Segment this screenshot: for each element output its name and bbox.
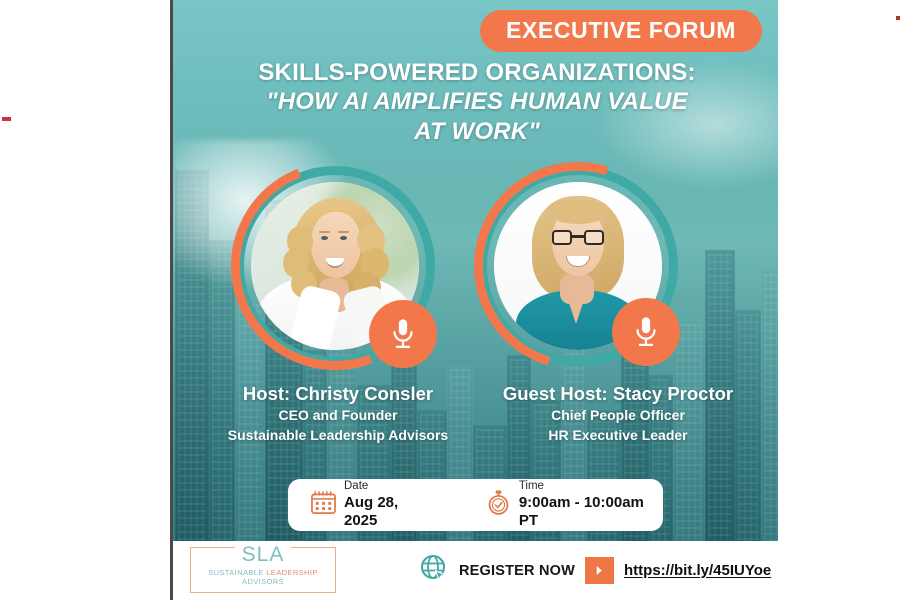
event-flyer: EXECUTIVE FORUM SKILLS-POWERED ORGANIZAT…	[170, 0, 778, 600]
speaker-avatar-stacy-proctor	[478, 166, 678, 366]
register-row: REGISTER NOW https://bit.ly/45IUYoe	[419, 553, 771, 588]
flyer-footer: SLA SUSTAINABLE LEADERSHIP ADVISORS REGI…	[173, 541, 778, 600]
page-mark-right	[896, 16, 900, 20]
microphone-icon	[612, 298, 680, 366]
avatar-accent-arc	[437, 125, 718, 406]
speaker-company: HR Executive Leader	[473, 426, 763, 446]
speaker-caption-stacy-proctor: Guest Host: Stacy Proctor Chief People O…	[473, 382, 763, 446]
speaker-name: Guest Host: Stacy Proctor	[473, 382, 763, 406]
time-label: Time	[519, 480, 663, 493]
speaker-title: CEO and Founder	[193, 406, 483, 426]
speaker-company: Sustainable Leadership Advisors	[193, 426, 483, 446]
avatar-accent-arc	[198, 129, 473, 404]
event-date-block: Date Aug 28, 2025	[310, 480, 433, 529]
calendar-icon	[310, 490, 337, 520]
event-time-block: Time 9:00am - 10:00am PT	[485, 480, 663, 529]
date-value: Aug 28, 2025	[344, 494, 433, 530]
headline-line-1: SKILLS-POWERED ORGANIZATIONS:	[173, 58, 778, 87]
speaker-title: Chief People Officer	[473, 406, 763, 426]
globe-cursor-icon	[419, 553, 449, 588]
event-date-text: Date Aug 28, 2025	[344, 480, 433, 529]
headline-line-3: AT WORK"	[173, 117, 778, 146]
date-label: Date	[344, 480, 433, 493]
sla-logo-line-2: ADVISORS	[242, 577, 284, 586]
speaker-name: Host: Christy Consler	[193, 382, 483, 406]
executive-forum-badge: EXECUTIVE FORUM	[480, 10, 762, 52]
headline: SKILLS-POWERED ORGANIZATIONS: "HOW AI AM…	[173, 58, 778, 146]
sla-logo-mark: SLA	[235, 544, 292, 565]
sla-logo-line-1: SUSTAINABLE LEADERSHIP	[208, 568, 318, 577]
speaker-avatar-christy-consler	[235, 166, 435, 366]
event-info-card: Date Aug 28, 2025 Time 9:00am - 10:00am …	[288, 479, 663, 531]
speaker-photos	[173, 166, 778, 386]
register-now-label: REGISTER NOW	[459, 563, 575, 579]
speaker-caption-christy-consler: Host: Christy Consler CEO and Founder Su…	[193, 382, 483, 446]
register-url-link[interactable]: https://bit.ly/45IUYoe	[624, 562, 771, 579]
headline-line-2: "HOW AI AMPLIFIES HUMAN VALUE	[173, 87, 778, 116]
event-time-text: Time 9:00am - 10:00am PT	[519, 480, 663, 529]
page-mark-left	[2, 117, 11, 121]
chevron-right-icon[interactable]	[585, 557, 614, 584]
time-value: 9:00am - 10:00am PT	[519, 494, 663, 530]
sla-logo: SLA SUSTAINABLE LEADERSHIP ADVISORS	[190, 547, 336, 593]
microphone-icon	[369, 300, 437, 368]
stopwatch-icon	[485, 489, 512, 521]
